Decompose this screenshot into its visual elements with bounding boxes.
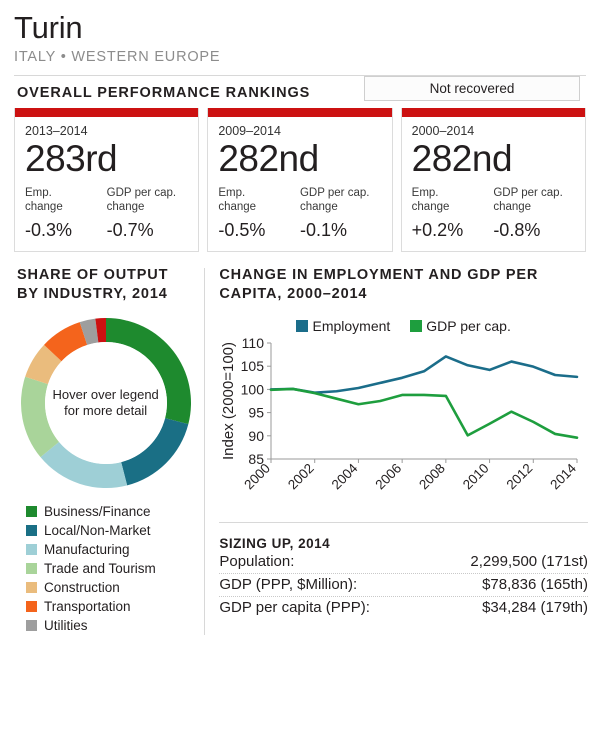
metric-label-line2: change — [412, 201, 494, 215]
rankings-row: 2013–2014 283rd Emp. change -0.3% GDP pe… — [0, 108, 600, 252]
legend-item[interactable]: Business/Finance — [17, 502, 194, 521]
card-accent-bar — [208, 108, 391, 117]
sizing-up-row: GDP (PPP, $Million):$78,836 (165th) — [219, 574, 588, 597]
y-tick-label: 105 — [241, 358, 265, 374]
sizing-up-value: $78,836 (165th) — [482, 574, 588, 595]
x-tick-label: 2000 — [242, 461, 274, 493]
card-metrics: Emp. change -0.3% GDP per cap. change -0… — [25, 187, 188, 241]
card-period: 2000–2014 — [412, 124, 575, 138]
donut-hint-line1: Hover over legend — [53, 387, 159, 403]
sizing-up-label: GDP per capita (PPP): — [219, 597, 370, 618]
line-series[interactable] — [271, 389, 577, 438]
line-chart[interactable]: 8590951001051102000200220042006200820102… — [219, 335, 588, 510]
legend-item[interactable]: Transportation — [17, 597, 194, 616]
legend-item[interactable]: Trade and Tourism — [17, 559, 194, 578]
legend-label: Transportation — [44, 597, 131, 616]
y-tick-label: 100 — [241, 381, 265, 397]
card-rank-value: 283rd — [25, 137, 188, 181]
metric-value: -0.1% — [300, 219, 382, 241]
x-tick-label: 2012 — [504, 461, 536, 493]
legend-item-gdp-per-cap[interactable]: GDP per cap. — [410, 318, 511, 334]
card-period: 2013–2014 — [25, 124, 188, 138]
sizing-up-row: GDP per capita (PPP):$34,284 (179th) — [219, 597, 588, 619]
legend-item[interactable]: Manufacturing — [17, 540, 194, 559]
metric-label-line1: GDP per cap. — [300, 187, 382, 201]
metric-employment-change: Emp. change -0.5% — [218, 187, 300, 241]
sizing-divider — [219, 522, 588, 523]
line-series[interactable] — [271, 356, 577, 392]
card-period: 2009–2014 — [218, 124, 381, 138]
donut-title-line1: SHARE OF OUTPUT — [17, 266, 194, 285]
legend-swatch-icon — [26, 506, 37, 517]
card-metrics: Emp. change +0.2% GDP per cap. change -0… — [412, 187, 575, 241]
x-tick-label: 2008 — [416, 461, 448, 493]
x-tick-label: 2002 — [285, 461, 317, 493]
y-tick-label: 95 — [249, 405, 265, 421]
legend-label: Local/Non-Market — [44, 521, 151, 540]
metric-gdp-per-cap-change: GDP per cap. change -0.7% — [107, 187, 189, 241]
metric-label-line1: GDP per cap. — [493, 187, 575, 201]
x-tick-label: 2010 — [460, 461, 492, 493]
legend-swatch-icon — [26, 582, 37, 593]
metric-value: +0.2% — [412, 219, 494, 241]
legend-label: Employment — [312, 318, 390, 334]
donut-hint-line2: for more detail — [53, 403, 159, 419]
card-accent-bar — [402, 108, 585, 117]
metric-label-line1: Emp. — [218, 187, 300, 201]
legend-label: Utilities — [44, 616, 88, 635]
metric-employment-change: Emp. change -0.3% — [25, 187, 107, 241]
sizing-up-title: SIZING UP, 2014 — [219, 536, 588, 551]
metric-gdp-per-cap-change: GDP per cap. change -0.8% — [493, 187, 575, 241]
card-accent-bar — [15, 108, 198, 117]
metric-label-line2: change — [107, 201, 189, 215]
sizing-up-label: GDP (PPP, $Million): — [219, 574, 357, 595]
x-tick-label: 2004 — [329, 460, 361, 492]
metric-label-line1: Emp. — [25, 187, 107, 201]
industry-legend: Business/FinanceLocal/Non-MarketManufact… — [17, 502, 194, 635]
card-rank-value: 282nd — [218, 137, 381, 181]
sizing-up-value: $34,284 (179th) — [482, 597, 588, 618]
legend-item[interactable]: Utilities — [17, 616, 194, 635]
legend-swatch-icon — [410, 320, 422, 332]
page-header: Turin ITALY • WESTERN EUROPE — [0, 0, 600, 67]
legend-label: Business/Finance — [44, 502, 151, 521]
legend-swatch-icon — [26, 563, 37, 574]
lower-section: SHARE OF OUTPUT BY INDUSTRY, 2014 Hover … — [0, 266, 600, 635]
sizing-up-table: Population:2,299,500 (171st)GDP (PPP, $M… — [219, 551, 588, 619]
legend-label: Construction — [44, 578, 120, 597]
line-chart-legend: Employment GDP per cap. — [219, 318, 588, 334]
sizing-up-row: Population:2,299,500 (171st) — [219, 551, 588, 574]
x-tick-label: 2006 — [373, 461, 405, 493]
metric-label-line2: change — [218, 201, 300, 215]
metric-value: -0.8% — [493, 219, 575, 241]
metric-label-line1: Emp. — [412, 187, 494, 201]
donut-title-line2: BY INDUSTRY, 2014 — [17, 285, 194, 304]
legend-swatch-icon — [26, 601, 37, 612]
city-profile-page: Turin ITALY • WESTERN EUROPE Not recover… — [0, 0, 600, 734]
status-badge[interactable]: Not recovered — [364, 76, 580, 101]
y-tick-label: 110 — [242, 335, 265, 351]
x-tick-label: 2014 — [548, 460, 580, 492]
legend-label: Trade and Tourism — [44, 559, 156, 578]
legend-swatch-icon — [296, 320, 308, 332]
industry-share-panel: SHARE OF OUTPUT BY INDUSTRY, 2014 Hover … — [0, 266, 204, 635]
metric-employment-change: Emp. change +0.2% — [412, 187, 494, 241]
ranking-card: 2013–2014 283rd Emp. change -0.3% GDP pe… — [14, 108, 199, 252]
sizing-up-value: 2,299,500 (171st) — [470, 551, 588, 572]
card-metrics: Emp. change -0.5% GDP per cap. change -0… — [218, 187, 381, 241]
metric-label-line2: change — [25, 201, 107, 215]
line-chart-title-line2: CAPITA, 2000–2014 — [219, 285, 588, 304]
metric-label-line1: GDP per cap. — [107, 187, 189, 201]
y-axis-label: Index (2000=100) — [220, 342, 237, 460]
legend-swatch-icon — [26, 525, 37, 536]
legend-label: GDP per cap. — [426, 318, 511, 334]
legend-item[interactable]: Construction — [17, 578, 194, 597]
ranking-card: 2009–2014 282nd Emp. change -0.5% GDP pe… — [207, 108, 392, 252]
y-tick-label: 90 — [249, 428, 265, 444]
page-title: Turin — [14, 10, 586, 46]
legend-item-employment[interactable]: Employment — [296, 318, 390, 334]
metric-value: -0.5% — [218, 219, 300, 241]
legend-item[interactable]: Local/Non-Market — [17, 521, 194, 540]
line-chart-svg: 8590951001051102000200220042006200820102… — [219, 335, 589, 510]
employment-gdp-panel: CHANGE IN EMPLOYMENT AND GDP PER CAPITA,… — [205, 266, 600, 635]
metric-label-line2: change — [300, 201, 382, 215]
ranking-card: 2000–2014 282nd Emp. change +0.2% GDP pe… — [401, 108, 586, 252]
page-subtitle: ITALY • WESTERN EUROPE — [14, 47, 586, 67]
legend-swatch-icon — [26, 620, 37, 631]
line-chart-title-line1: CHANGE IN EMPLOYMENT AND GDP PER — [219, 266, 588, 285]
card-rank-value: 282nd — [412, 137, 575, 181]
sizing-up-label: Population: — [219, 551, 294, 572]
legend-label: Manufacturing — [44, 540, 130, 559]
metric-value: -0.3% — [25, 219, 107, 241]
metric-value: -0.7% — [107, 219, 189, 241]
donut-center-hint: Hover over legend for more detail — [45, 342, 167, 464]
metric-gdp-per-cap-change: GDP per cap. change -0.1% — [300, 187, 382, 241]
legend-swatch-icon — [26, 544, 37, 555]
donut-chart[interactable]: Hover over legend for more detail — [21, 318, 191, 488]
metric-label-line2: change — [493, 201, 575, 215]
